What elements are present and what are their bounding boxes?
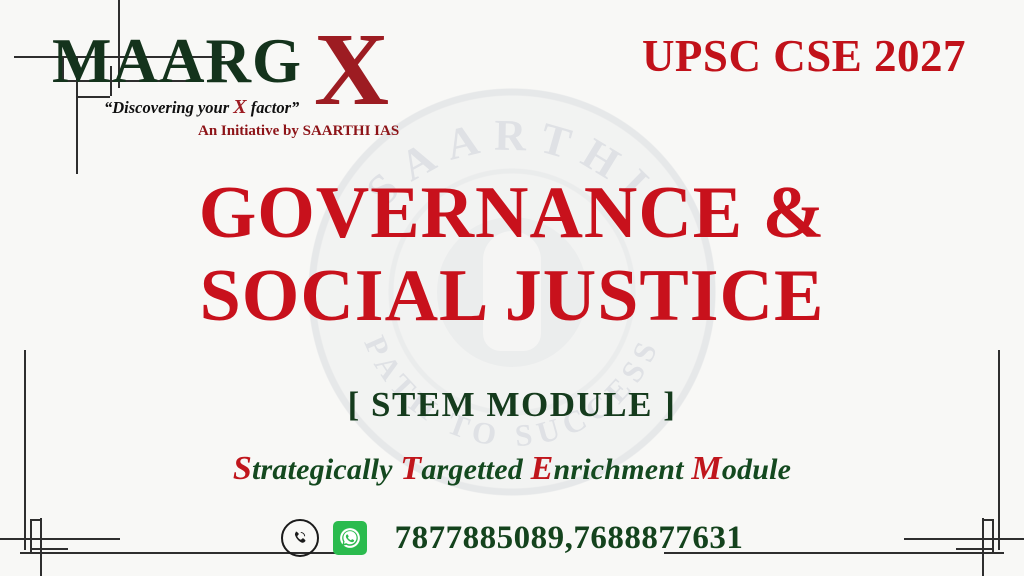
poster-canvas: SAARTHI PATH TO SUCCESS MAARG X “Discove… bbox=[0, 0, 1024, 576]
subtitle-word: Module bbox=[691, 453, 791, 486]
logo-wordmark-text: MAARG bbox=[52, 26, 302, 96]
whatsapp-glyph-icon bbox=[337, 525, 363, 551]
exam-title: UPSC CSE 2027 bbox=[642, 30, 966, 82]
subtitle-rest: nrichment bbox=[554, 453, 684, 486]
phone-handset-icon bbox=[291, 530, 308, 547]
whatsapp-icon[interactable] bbox=[333, 521, 367, 555]
call-icon[interactable] bbox=[281, 519, 319, 557]
subtitle-cap: E bbox=[531, 450, 554, 487]
subtitle-rest: odule bbox=[722, 453, 791, 486]
subtitle-rest: trategically bbox=[252, 453, 393, 486]
module-subtitle: Strategically Targetted Enrichment Modul… bbox=[0, 450, 1024, 488]
subtitle-rest: argetted bbox=[421, 453, 523, 486]
subtitle-cap: S bbox=[233, 450, 252, 487]
logo-wordmark: MAARG X bbox=[52, 32, 402, 92]
subtitle-word: Targetted bbox=[400, 453, 523, 486]
maargx-logo: MAARG X “Discovering your X factor” An I… bbox=[52, 32, 402, 140]
page-title-line-2: SOCIAL JUSTICE bbox=[0, 255, 1024, 338]
logo-x-letter: X bbox=[314, 18, 390, 122]
logo-tagline-pre: “Discovering your bbox=[104, 98, 233, 117]
subtitle-cap: M bbox=[691, 450, 721, 487]
logo-tagline-x: X bbox=[233, 96, 246, 118]
page-title-line-1: GOVERNANCE & bbox=[0, 172, 1024, 255]
phone-numbers[interactable]: 7877885089,7688877631 bbox=[395, 520, 744, 557]
module-tag: [ STEM MODULE ] bbox=[0, 385, 1024, 425]
subtitle-word: Strategically bbox=[233, 453, 393, 486]
logo-tagline-post: factor” bbox=[247, 98, 300, 117]
contact-row: 7877885089,7688877631 bbox=[0, 519, 1024, 557]
subtitle-cap: T bbox=[400, 450, 421, 487]
subtitle-word: Enrichment bbox=[531, 453, 684, 486]
page-title: GOVERNANCE & SOCIAL JUSTICE bbox=[0, 172, 1024, 338]
